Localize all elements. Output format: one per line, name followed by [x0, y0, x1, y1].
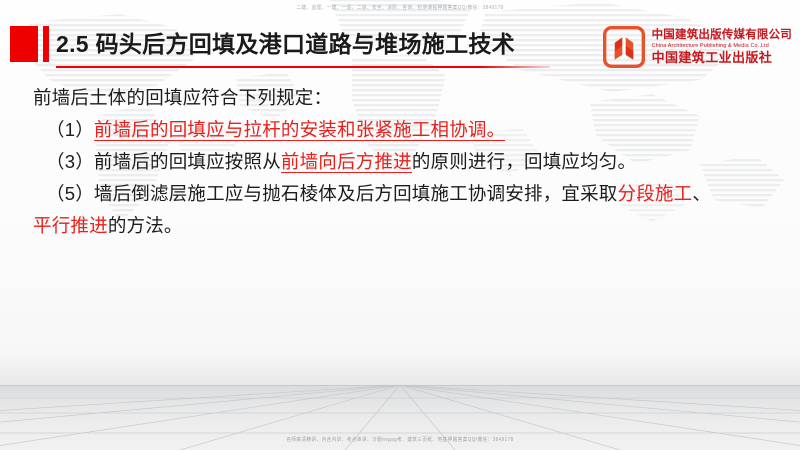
publisher-logo: 中国建筑出版传媒有限公司 China Architecture Publishi…: [603, 24, 792, 70]
list-item: （3）前墙后的回填应按照从前墙向后方推进的原则进行，回填应均匀。: [0, 146, 800, 178]
continuation-highlight: 平行推进: [33, 215, 108, 236]
item-segment: 前墙后的回填应与拉杆的安装和张紧施工相协调。: [94, 119, 505, 141]
lead-paragraph: 前墙后土体的回填应符合下列规定：: [0, 82, 800, 114]
slide-canvas: 二建、监理、一建、一造、二造、安全、消防、咨询、检测课程押题答案QQ/微信：38…: [0, 0, 800, 450]
publisher-press-cn: 中国建筑工业出版社: [652, 50, 792, 67]
list-item: （5）墙后倒滤层施工应与抛石棱体及后方回填施工协调安排，宜采取分段施工、: [0, 178, 800, 210]
title-underline-rule: [56, 66, 550, 68]
continuation-line: 平行推进的方法。: [0, 210, 800, 242]
item-marker: （5）: [46, 183, 94, 204]
item-segment: 前墙后的回填应按照从: [94, 151, 281, 172]
slide-body: 前墙后土体的回填应符合下列规定： （1）前墙后的回填应与拉杆的安装和张紧施工相协…: [0, 82, 800, 242]
continuation-text: 的方法。: [108, 215, 183, 236]
item-segment-highlight: 分段施工: [618, 183, 693, 204]
item-marker: （3）: [46, 151, 94, 172]
accent-bar-icon: [43, 26, 49, 62]
item-marker: （1）: [46, 119, 94, 140]
publisher-logo-text: 中国建筑出版传媒有限公司 China Architecture Publishi…: [652, 28, 792, 67]
wall-shadow: [0, 352, 800, 386]
item-segment: 墙后倒滤层施工应与抛石棱体及后方回填施工协调安排，宜采取: [94, 183, 618, 204]
publisher-company-en: China Architecture Publishing & Media Co…: [652, 41, 792, 49]
page-title: 2.5 码头后方回填及港口道路与堆场施工技术: [56, 27, 515, 61]
publisher-company-cn: 中国建筑出版传媒有限公司: [652, 28, 792, 42]
watermark-bottom: 名师高清精讲、内含内训、考点串讲、习题педag考、建筑三页纸、地基押题答案QQ…: [0, 437, 800, 444]
book-mountain-logo-icon: [603, 26, 645, 68]
item-segment-highlight: 前墙向后方推进: [281, 151, 412, 173]
accent-block-icon: [10, 26, 38, 62]
watermark-top: 二建、监理、一建、一造、二造、安全、消防、咨询、检测课程押题答案QQ/微信：38…: [0, 5, 800, 12]
list-item: （1）前墙后的回填应与拉杆的安装和张紧施工相协调。: [0, 114, 800, 146]
item-segment: 的原则进行，回填应均匀。: [412, 151, 636, 172]
lead-text: 前墙后土体的回填应符合下列规定：: [33, 87, 332, 108]
item-segment: 、: [692, 183, 711, 204]
